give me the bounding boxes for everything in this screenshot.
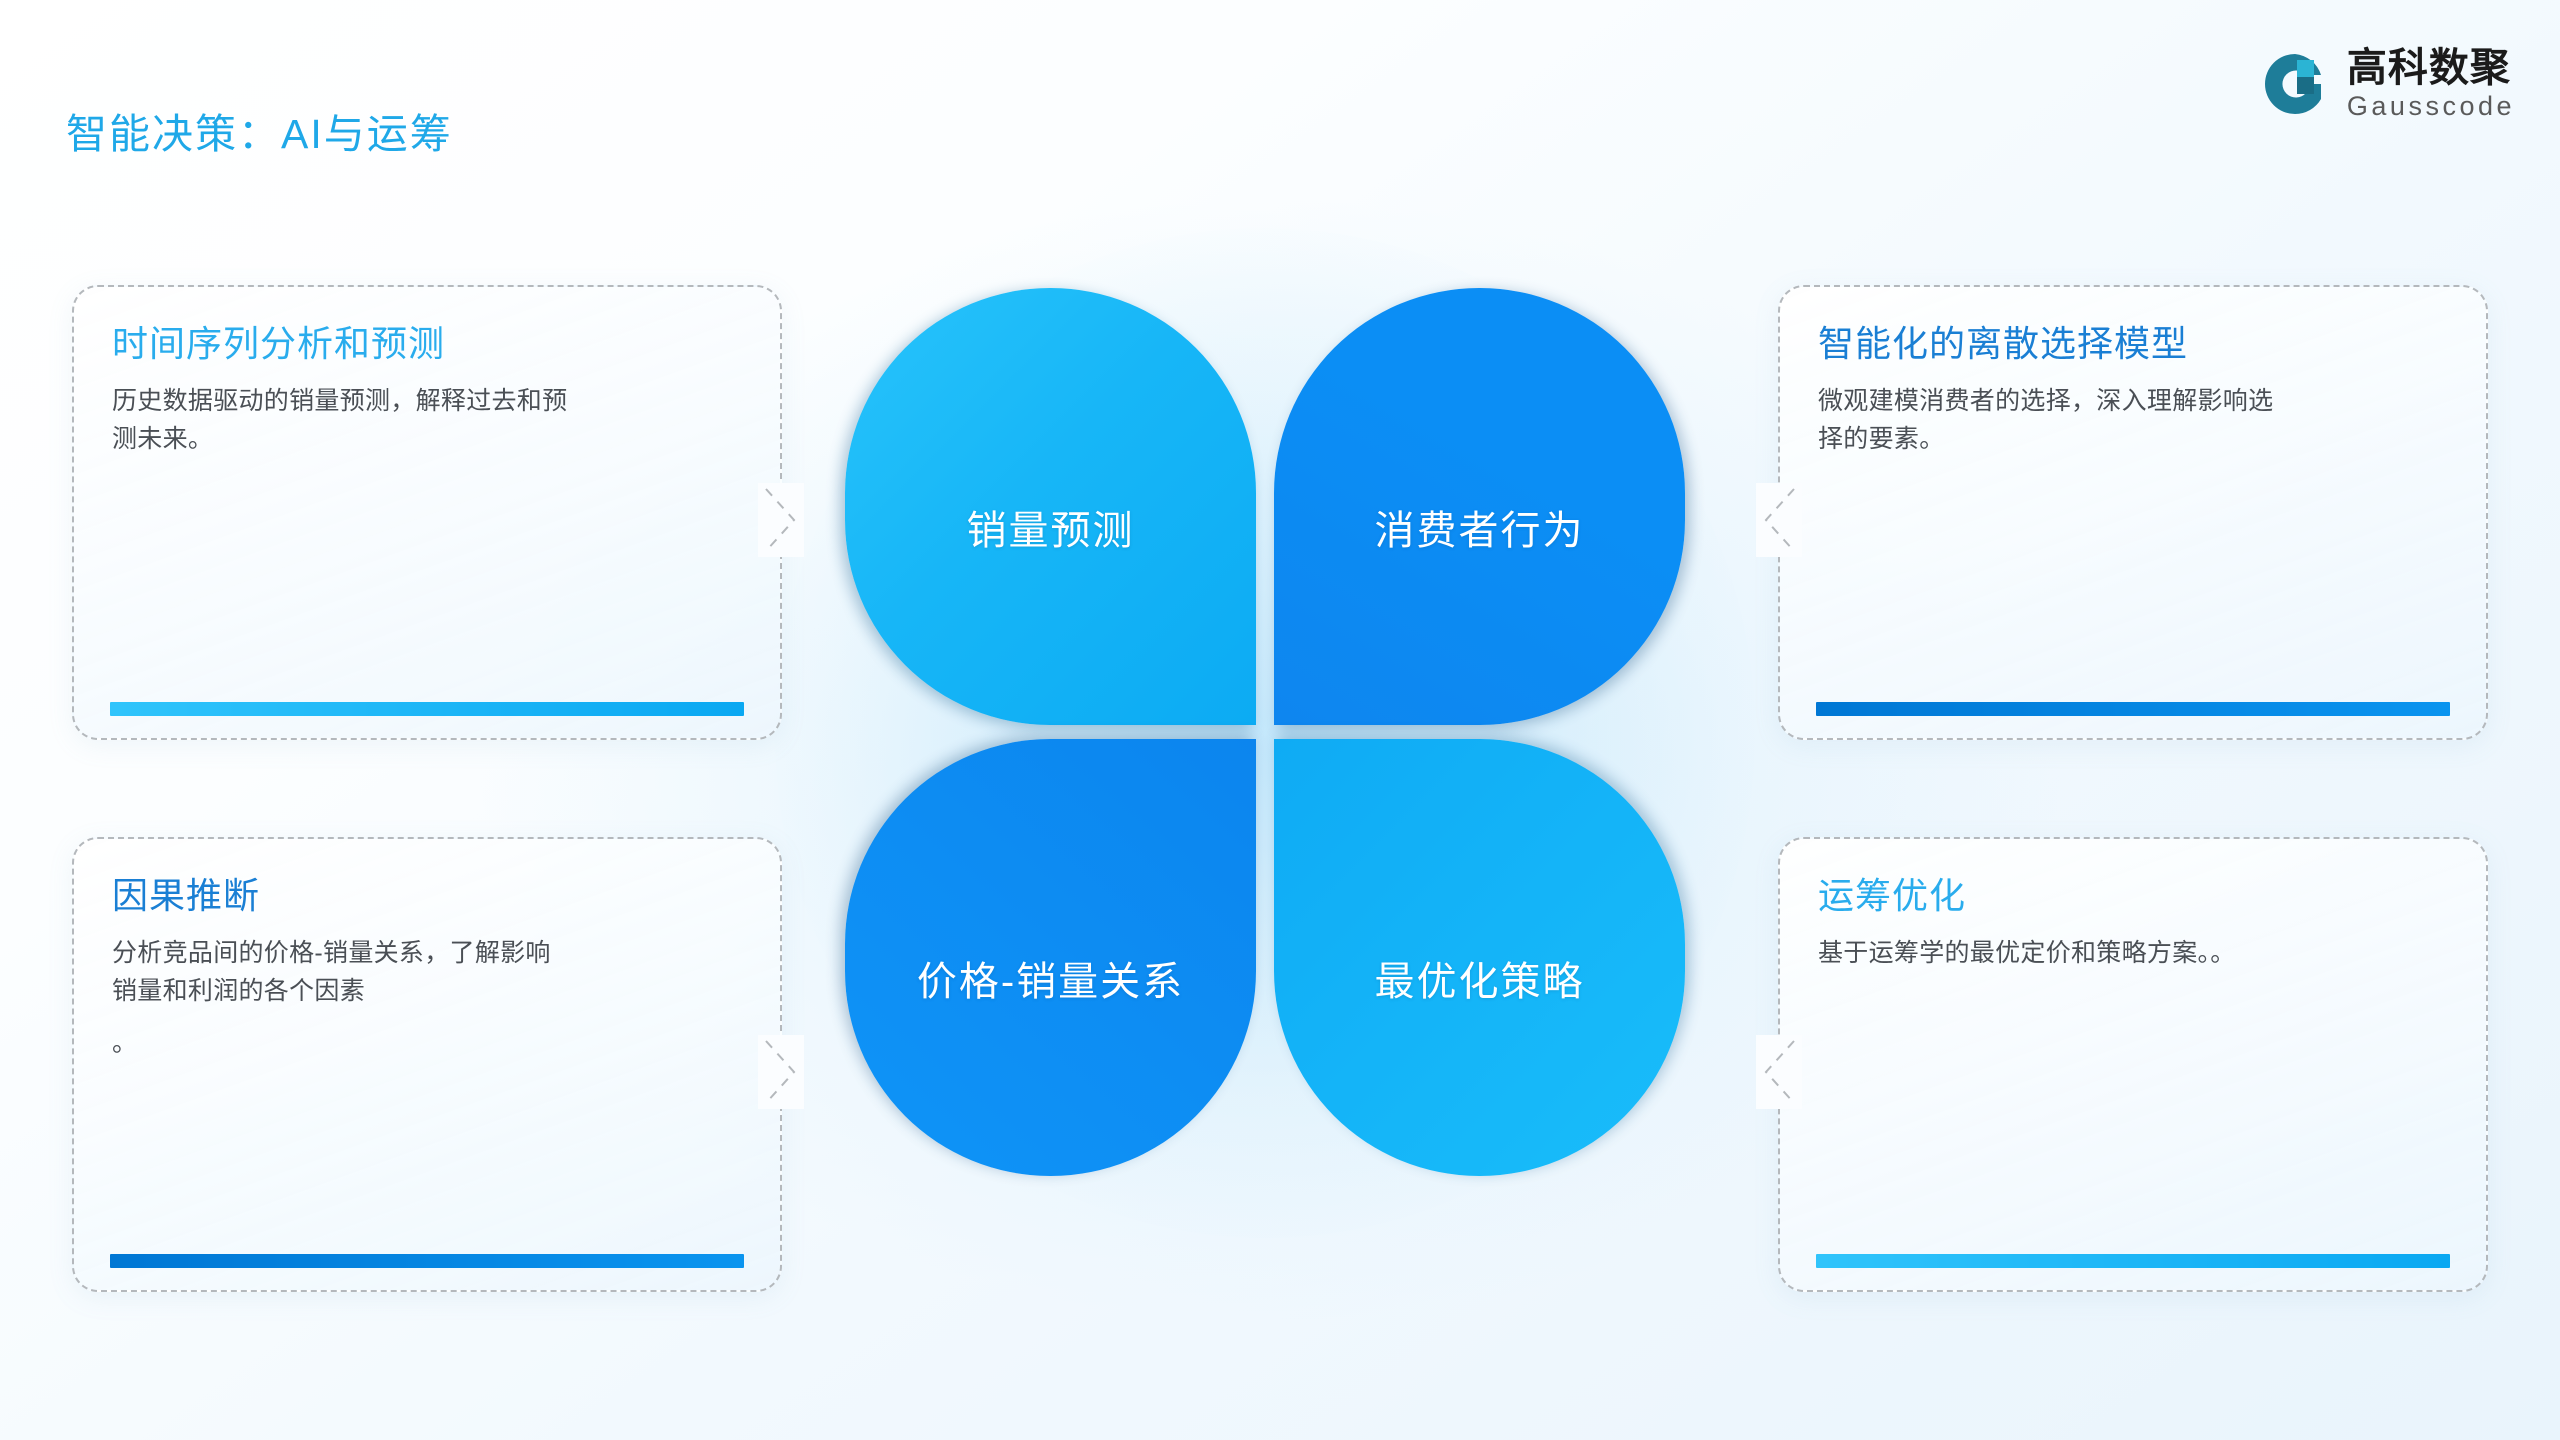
card-body-line: 测未来。 <box>112 420 746 458</box>
card-body-line: 择的要素。 <box>1818 420 2452 458</box>
card-operations-optimization[interactable]: 运筹优化 基于运筹学的最优定价和策略方案。。 <box>1778 837 2488 1292</box>
card-body-line: 历史数据驱动的销量预测，解释过去和预 <box>112 382 746 420</box>
chevron-right-icon <box>758 483 804 557</box>
card-body-discrete-choice: 微观建模消费者的选择，深入理解影响选 择的要素。 <box>1818 382 2452 458</box>
card-accent-bar <box>110 1254 744 1268</box>
petal-diagram: 销量预测 消费者行为 价格-销量关系 最优化策略 <box>845 288 1685 1176</box>
card-causal-inference[interactable]: 因果推断 分析竞品间的价格-销量关系，了解影响 销量和利润的各个因素 。 <box>72 837 782 1292</box>
petal-label-price-volume: 价格-销量关系 <box>917 949 1184 1007</box>
petal-price-volume[interactable]: 价格-销量关系 <box>845 739 1256 1176</box>
card-body-causal-inference: 分析竞品间的价格-销量关系，了解影响 销量和利润的各个因素 。 <box>112 934 746 1062</box>
page-header: 智能决策：AI与运筹 高科数聚 Gausscode <box>0 0 2560 175</box>
chevron-right-icon <box>758 1035 804 1109</box>
card-body-operations-optimization: 基于运筹学的最优定价和策略方案。。 <box>1818 934 2452 972</box>
page-title: 智能决策：AI与运筹 <box>66 100 453 160</box>
gausscode-logo-icon <box>2259 48 2331 120</box>
petal-consumer-behavior[interactable]: 消费者行为 <box>1274 288 1685 725</box>
logo-name-en: Gausscode <box>2347 93 2515 120</box>
card-body-time-series: 历史数据驱动的销量预测，解释过去和预 测未来。 <box>112 382 746 458</box>
card-title-time-series: 时间序列分析和预测 <box>112 321 746 366</box>
card-content: 时间序列分析和预测 历史数据驱动的销量预测，解释过去和预 测未来。 <box>112 321 746 458</box>
card-accent-bar <box>110 702 744 716</box>
chevron-left-icon <box>1756 1035 1802 1109</box>
card-title-discrete-choice: 智能化的离散选择模型 <box>1818 321 2452 366</box>
card-body-line: 。 <box>112 1024 746 1062</box>
card-title-causal-inference: 因果推断 <box>112 873 746 918</box>
brand-logo: 高科数聚 Gausscode <box>2259 48 2515 120</box>
chevron-left-icon <box>1756 483 1802 557</box>
card-content: 因果推断 分析竞品间的价格-销量关系，了解影响 销量和利润的各个因素 。 <box>112 873 746 1062</box>
card-body-line: 销量和利润的各个因素 <box>112 972 746 1010</box>
logo-text: 高科数聚 Gausscode <box>2347 48 2515 120</box>
petal-sales-forecast[interactable]: 销量预测 <box>845 288 1256 725</box>
card-content: 运筹优化 基于运筹学的最优定价和策略方案。。 <box>1818 873 2452 972</box>
card-accent-bar <box>1816 1254 2450 1268</box>
petal-label-consumer-behavior: 消费者行为 <box>1375 498 1585 556</box>
card-body-line: 微观建模消费者的选择，深入理解影响选 <box>1818 382 2452 420</box>
logo-name-cn: 高科数聚 <box>2347 48 2515 88</box>
petal-optimization[interactable]: 最优化策略 <box>1274 739 1685 1176</box>
card-body-line: 基于运筹学的最优定价和策略方案。。 <box>1818 934 2452 972</box>
card-body-line: 分析竞品间的价格-销量关系，了解影响 <box>112 934 746 972</box>
card-accent-bar <box>1816 702 2450 716</box>
card-discrete-choice[interactable]: 智能化的离散选择模型 微观建模消费者的选择，深入理解影响选 择的要素。 <box>1778 285 2488 740</box>
card-content: 智能化的离散选择模型 微观建模消费者的选择，深入理解影响选 择的要素。 <box>1818 321 2452 458</box>
petal-label-optimization: 最优化策略 <box>1375 949 1585 1007</box>
card-title-operations-optimization: 运筹优化 <box>1818 873 2452 918</box>
petal-label-sales-forecast: 销量预测 <box>967 498 1135 556</box>
card-time-series[interactable]: 时间序列分析和预测 历史数据驱动的销量预测，解释过去和预 测未来。 <box>72 285 782 740</box>
